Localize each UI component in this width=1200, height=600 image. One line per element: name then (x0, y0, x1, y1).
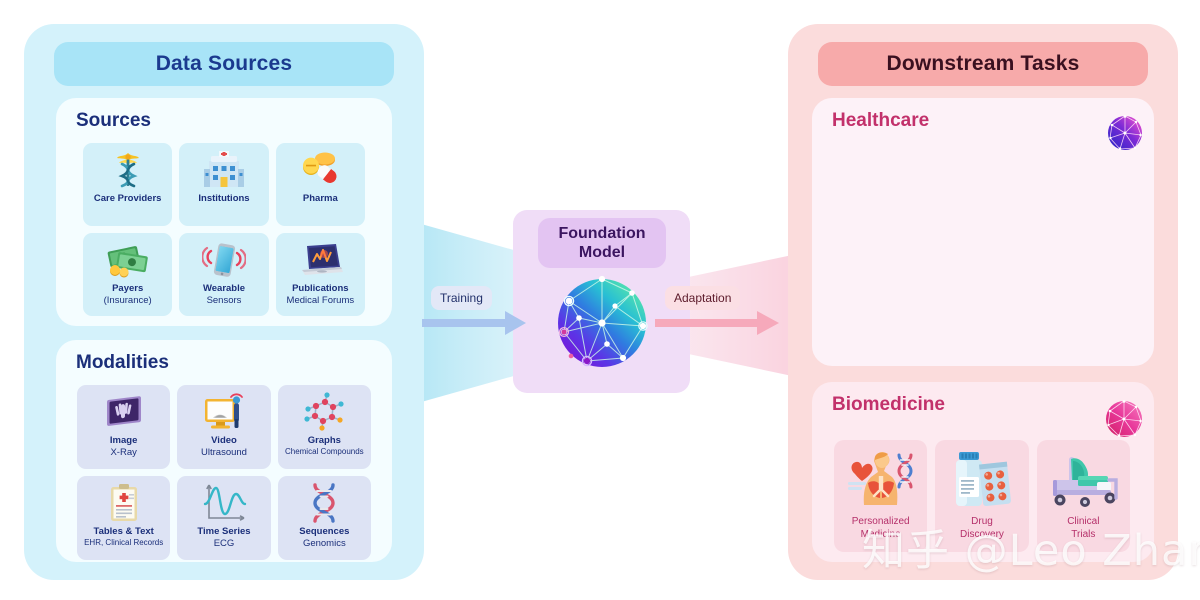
human-anatomy-dna-icon (844, 446, 918, 514)
tile-sub: Genomics (303, 538, 346, 550)
hospital-bed-icon (1045, 446, 1121, 514)
tile-label: Publications (292, 283, 348, 295)
tile-sub: Chemical Compounds (285, 447, 364, 457)
source-tile-publications[interactable]: Publications Medical Forums (276, 233, 365, 316)
tile-label: Care Providers (94, 193, 162, 205)
modality-tile-tables-text[interactable]: Tables & Text EHR, Clinical Records (77, 476, 170, 560)
money-icon (105, 238, 151, 282)
tile-label: Sequences (299, 526, 349, 538)
tile-sub: ECG (214, 538, 235, 550)
tile-label: Image (110, 435, 137, 447)
tile-sub: EHR, Clinical Records (84, 538, 163, 548)
tile-label: Graphs (308, 435, 341, 447)
btile-label-line1: Personalized (852, 516, 910, 527)
hospital-icon (202, 148, 246, 192)
modalities-title: Modalities (76, 352, 169, 374)
tile-label: Institutions (198, 193, 249, 205)
biomedicine-tile-grid: Personalized Medicine (834, 440, 1130, 552)
biomedicine-tile-drug-discovery[interactable]: Drug Discovery (935, 440, 1028, 552)
data-sources-header: Data Sources (54, 42, 394, 86)
tile-label: Payers (112, 283, 143, 295)
biomedicine-tile-clinical-trials[interactable]: Clinical Trials (1037, 440, 1130, 552)
btile-label: Personalized Medicine (852, 516, 910, 541)
biomedicine-title: Biomedicine (832, 394, 945, 416)
btile-label-line1: Clinical (1067, 516, 1099, 527)
training-arrow (422, 308, 527, 338)
modality-tile-time-series[interactable]: Time Series ECG (177, 476, 270, 560)
source-tile-institutions[interactable]: Institutions (179, 143, 268, 226)
foundation-model-title: Foundation Model (538, 218, 666, 268)
ecg-wave-icon (200, 481, 248, 525)
clipboard-icon (104, 481, 144, 525)
caduceus-icon (111, 148, 145, 192)
tile-label: Video (211, 435, 237, 447)
healthcare-card: Healthcare (812, 98, 1154, 366)
drug-bottle-icon (947, 446, 1017, 514)
ultrasound-icon (200, 390, 248, 434)
network-sphere-model-icon (547, 268, 657, 378)
source-tile-payers[interactable]: Payers (Insurance) (83, 233, 172, 316)
tile-label: Pharma (303, 193, 338, 205)
tile-sub: (Insurance) (104, 295, 152, 307)
adaptation-arrow (655, 308, 780, 338)
modalities-tile-grid: Image X-Ray Video Ultrasound (77, 385, 371, 560)
modality-tile-image-xray[interactable]: Image X-Ray (77, 385, 170, 469)
btile-label-line2: Medicine (861, 529, 901, 540)
modality-tile-sequences[interactable]: Sequences Genomics (278, 476, 371, 560)
tile-sub: Ultrasound (201, 447, 247, 459)
tile-sub: Medical Forums (287, 295, 355, 307)
training-label: Training (431, 286, 492, 310)
molecule-icon (301, 390, 347, 434)
tile-label: Tables & Text (93, 526, 153, 538)
biomedicine-tile-personalized-medicine[interactable]: Personalized Medicine (834, 440, 927, 552)
sources-tile-grid: Care Providers (83, 143, 365, 316)
tile-label: Wearable (203, 283, 245, 295)
healthcare-title: Healthcare (832, 110, 929, 132)
network-sphere-pink-icon (1103, 398, 1145, 440)
diagram-canvas: Data Sources Sources Care Providers (0, 0, 1200, 600)
btile-label-line1: Drug (971, 516, 993, 527)
pills-icon (298, 148, 342, 192)
laptop-chart-icon (296, 238, 344, 282)
btile-label-line2: Trials (1071, 529, 1095, 540)
modality-tile-graphs[interactable]: Graphs Chemical Compounds (278, 385, 371, 469)
xray-icon (100, 390, 148, 434)
source-tile-pharma[interactable]: Pharma (276, 143, 365, 226)
tile-label: Time Series (197, 526, 250, 538)
sources-title: Sources (76, 110, 151, 132)
adaptation-label: Adaptation (665, 286, 740, 310)
source-tile-care-providers[interactable]: Care Providers (83, 143, 172, 226)
btile-label: Clinical Trials (1067, 516, 1099, 541)
btile-label-line2: Discovery (960, 529, 1004, 540)
foundation-model-title-line1: Foundation (558, 224, 645, 243)
smartphone-signal-icon (202, 238, 246, 282)
modality-tile-video-ultrasound[interactable]: Video Ultrasound (177, 385, 270, 469)
source-tile-wearable-sensors[interactable]: Wearable Sensors (179, 233, 268, 316)
tile-sub: Sensors (207, 295, 242, 307)
foundation-model-title-line2: Model (579, 243, 625, 262)
network-sphere-blue-icon (1105, 113, 1145, 153)
btile-label: Drug Discovery (960, 516, 1004, 541)
downstream-tasks-header: Downstream Tasks (818, 42, 1148, 86)
dna-icon (303, 481, 345, 525)
tile-sub: X-Ray (110, 447, 136, 459)
